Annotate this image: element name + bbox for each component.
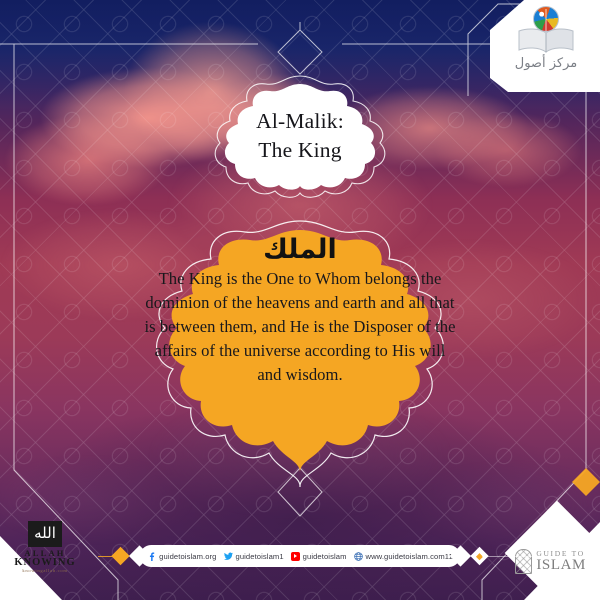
content-panel-inner: الملك The King is the One to Whom belong… bbox=[98, 228, 502, 480]
footer-social-bar: guidetoislam.org guidetoislam1 guidetois… bbox=[140, 545, 460, 567]
social-link-youtube[interactable]: guidetoislam bbox=[291, 552, 347, 561]
title-card: Al-Malik: The King bbox=[193, 82, 407, 190]
social-label-twitter: guidetoislam1 bbox=[236, 552, 284, 561]
social-label-website: www.guidetoislam.com11 bbox=[366, 552, 453, 561]
arabic-name-calligraphy: الملك bbox=[263, 236, 337, 263]
social-link-website[interactable]: www.guidetoislam.com11 bbox=[354, 552, 453, 561]
social-label-facebook: guidetoislam.org bbox=[159, 552, 216, 561]
logo-guide-to-islam: GUIDE TO ISLAM bbox=[515, 549, 586, 574]
mosque-arch-icon bbox=[515, 549, 532, 574]
logo-arabic-text: مركز أصول bbox=[515, 56, 577, 71]
logo-allah-line-2: KNOWING bbox=[14, 557, 75, 568]
social-link-facebook[interactable]: guidetoislam.org bbox=[147, 552, 216, 561]
logo-allah-line-1: ALLAH bbox=[24, 549, 65, 558]
title-text-block: Al-Malik: The King bbox=[193, 82, 407, 190]
title-line-2: The King bbox=[258, 136, 341, 165]
allah-calligraphy-mark: الله bbox=[28, 521, 62, 547]
globe-icon bbox=[533, 6, 559, 32]
social-label-youtube: guidetoislam bbox=[303, 552, 347, 561]
twitter-icon bbox=[224, 552, 233, 561]
logo-allah-knowing: الله ALLAH KNOWING knowingallah.com bbox=[14, 521, 76, 574]
logo-markaz-usul: مركز أصول bbox=[500, 6, 592, 86]
content-panel: الملك The King is the One to Whom belong… bbox=[98, 228, 502, 480]
footer-line-right bbox=[482, 556, 580, 557]
title-line-1: Al-Malik: bbox=[256, 107, 344, 136]
logo-guide-text: GUIDE TO ISLAM bbox=[536, 550, 586, 574]
logo-guide-line-2: ISLAM bbox=[536, 558, 586, 573]
logo-allah-website: knowingallah.com bbox=[22, 569, 67, 574]
globe-icon bbox=[354, 552, 363, 561]
youtube-icon bbox=[291, 552, 300, 561]
social-link-twitter[interactable]: guidetoislam1 bbox=[224, 552, 284, 561]
body-text: The King is the One to Whom belongs the … bbox=[144, 267, 456, 386]
poster: مركز أصول Al-Malik: The King الملك The K… bbox=[0, 0, 600, 600]
footer-line-left bbox=[98, 556, 116, 557]
